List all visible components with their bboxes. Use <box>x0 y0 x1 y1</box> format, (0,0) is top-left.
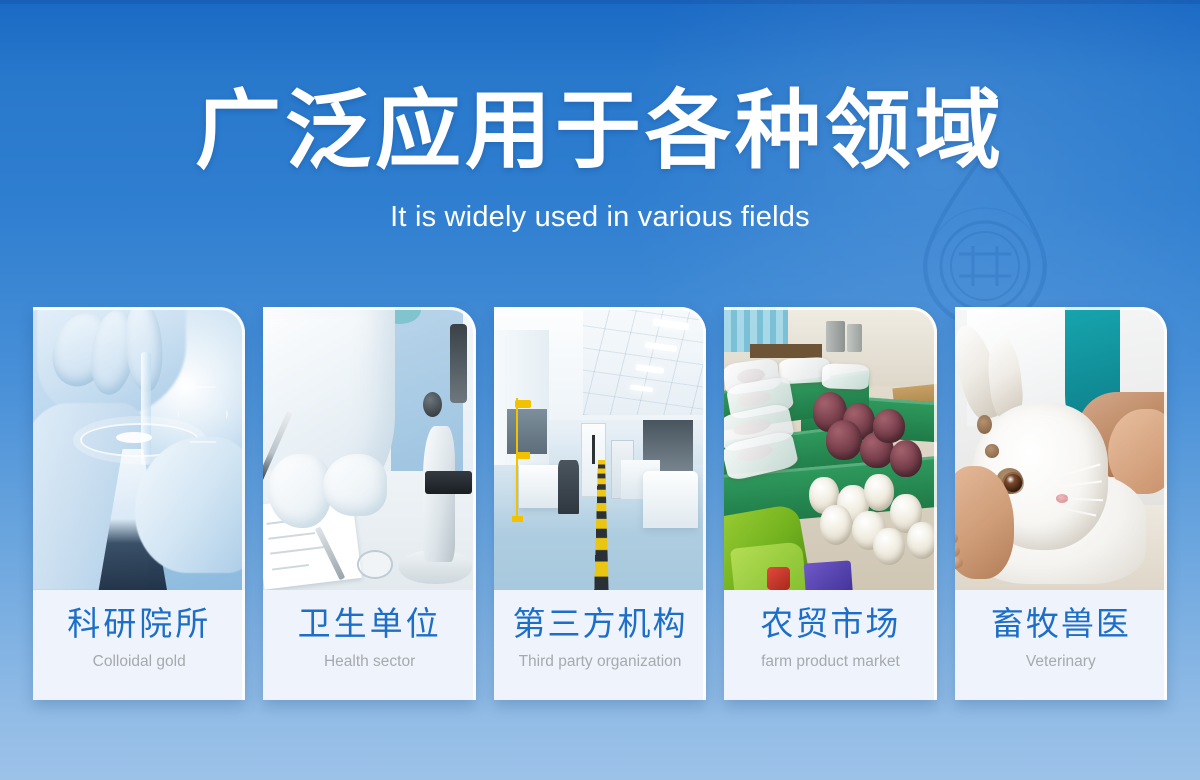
card-caption: 农贸市场 farm product market <box>724 590 936 700</box>
card-caption: 畜牧兽医 Veterinary <box>955 590 1167 700</box>
card-caption: 科研院所 Colloidal gold <box>33 590 245 700</box>
card-veterinary[interactable]: 畜牧兽医 Veterinary <box>955 307 1167 700</box>
page-subtitle: It is widely used in various fields <box>0 202 1200 234</box>
laboratory-interior-photo <box>494 307 706 590</box>
card-title-en: Colloidal gold <box>33 653 245 672</box>
card-health-sector[interactable]: 卫生单位 Health sector <box>263 307 475 700</box>
lab-microscope-notes-photo <box>263 307 475 590</box>
card-title-en: farm product market <box>724 653 936 672</box>
card-title-cn: 农贸市场 <box>724 606 936 642</box>
card-farm-market[interactable]: 农贸市场 farm product market <box>724 307 936 700</box>
veterinary-rabbit-photo <box>955 307 1167 590</box>
card-photo <box>955 307 1167 590</box>
card-title-en: Veterinary <box>955 653 1167 672</box>
card-title-cn: 卫生单位 <box>263 606 475 642</box>
application-cards: 科研院所 Colloidal gold <box>33 307 1167 700</box>
card-third-party-organization[interactable]: 第三方机构 Third party organization <box>494 307 706 700</box>
card-title-cn: 第三方机构 <box>494 606 706 642</box>
promo-banner: 广泛应用于各种领域 It is widely used in various f… <box>0 0 1200 780</box>
card-research-institute[interactable]: 科研院所 Colloidal gold <box>33 307 245 700</box>
page-title: 广泛应用于各种领域 <box>0 88 1200 174</box>
card-title-cn: 畜牧兽医 <box>955 606 1167 642</box>
card-title-en: Health sector <box>263 653 475 672</box>
card-caption: 第三方机构 Third party organization <box>494 590 706 700</box>
card-photo <box>33 307 245 590</box>
farm-market-produce-photo <box>724 307 936 590</box>
card-photo <box>494 307 706 590</box>
card-caption: 卫生单位 Health sector <box>263 590 475 700</box>
card-photo <box>724 307 936 590</box>
lab-pipette-beaker-photo <box>33 307 245 590</box>
card-photo <box>263 307 475 590</box>
banner-headings: 广泛应用于各种领域 It is widely used in various f… <box>0 88 1200 234</box>
card-title-cn: 科研院所 <box>33 606 245 642</box>
card-title-en: Third party organization <box>494 653 706 672</box>
